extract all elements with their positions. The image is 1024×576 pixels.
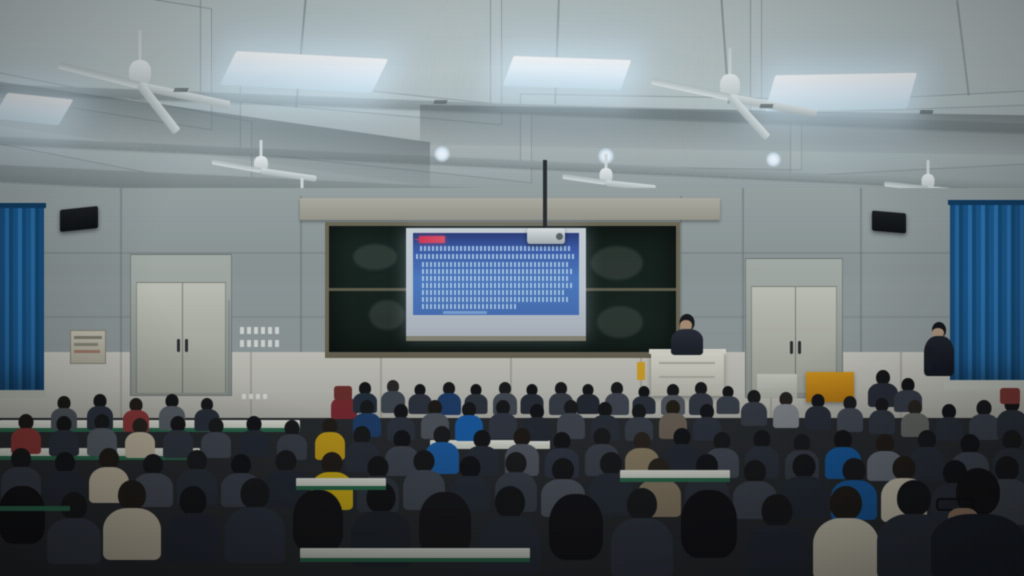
door-handle-right-2[interactable] [798, 341, 801, 354]
lecture-hall-photo [0, 0, 1024, 576]
screen-bottom-bar [406, 336, 586, 341]
wall-marks-left-2 [240, 340, 279, 347]
window-curtain-left [0, 205, 44, 393]
projection-screen [406, 228, 586, 338]
wall-panel-divider-left [228, 300, 230, 396]
chalk-tray [325, 352, 680, 358]
wall-marks-left-3 [242, 394, 267, 399]
window-sill-left [0, 390, 46, 398]
ceiling-fan-2 [652, 48, 808, 144]
lecturer-at-podium [670, 314, 704, 354]
wall-speaker-left [60, 206, 98, 232]
door-handle-left-2[interactable] [185, 339, 188, 352]
door-handle-left[interactable] [177, 339, 180, 352]
downlight-1 [434, 146, 450, 162]
downlight-3 [766, 152, 781, 167]
slide-title-banner [419, 236, 445, 243]
board-header-band [300, 198, 720, 220]
lecturer-torso [671, 329, 703, 355]
door-handle-right[interactable] [790, 341, 793, 354]
bag-on-desk [334, 386, 352, 400]
troffer-light-2 [503, 56, 632, 90]
double-door-left[interactable] [136, 282, 226, 394]
standing-person-right [922, 322, 956, 384]
projector-lens [556, 233, 563, 240]
notice-board [70, 330, 106, 364]
bag-on-desk-right [1000, 388, 1020, 404]
ceiling-fan-1 [55, 30, 225, 130]
wall-speaker-right [872, 211, 906, 234]
foreground-person-with-glasses [930, 468, 1024, 576]
podium-object [637, 362, 645, 380]
projector-mount-pole [543, 160, 547, 232]
wall-marks-left [240, 327, 279, 334]
student-desks [300, 548, 530, 558]
presentation-slide [413, 233, 579, 315]
window-curtain-right [950, 202, 1024, 390]
desk-edge-left [0, 506, 70, 511]
ceiling [0, 0, 1024, 215]
